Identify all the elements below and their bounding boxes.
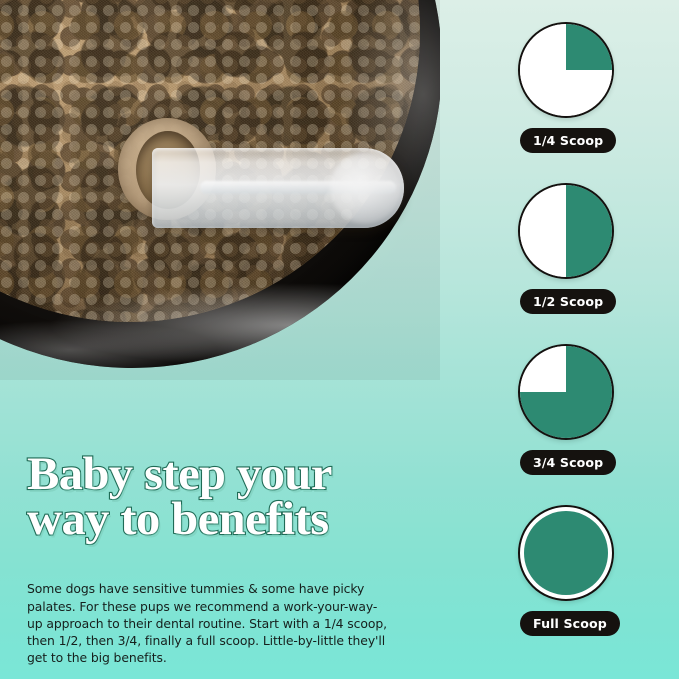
jar-photo [0, 0, 440, 380]
dial-fill-full [524, 511, 608, 595]
dial-fill-three-quarter [520, 346, 612, 438]
headline: Baby step your way to benefits [27, 452, 439, 542]
scoop-dial-full [518, 505, 614, 601]
headline-line-2: way to benefits [27, 497, 439, 542]
scoop-label-half: 1/2 Scoop [520, 289, 616, 314]
scoop-item-quarter: 1/4 Scoop [505, 22, 679, 153]
scoop-dial-column: 1/4 Scoop 1/2 Scoop 3/4 Scoop Full Scoop [505, 0, 679, 679]
scoop-dial-quarter [518, 22, 614, 118]
product-infographic-poster: Baby step your way to benefits Some dogs… [0, 0, 679, 679]
scoop-dial-three-quarter [518, 344, 614, 440]
body-paragraph: Some dogs have sensitive tummies & some … [27, 580, 387, 666]
scoop-item-three-quarter: 3/4 Scoop [505, 344, 679, 475]
scoop-item-half: 1/2 Scoop [505, 183, 679, 314]
scoop-handle-tip-highlight [330, 152, 402, 224]
headline-line-1: Baby step your [27, 452, 439, 497]
scoop-label-three-quarter: 3/4 Scoop [520, 450, 616, 475]
scoop-label-full: Full Scoop [520, 611, 620, 636]
dial-fill-quarter [520, 24, 612, 116]
scoop-item-full: Full Scoop [505, 505, 679, 636]
dial-fill-half [520, 185, 612, 277]
scoop-dial-half [518, 183, 614, 279]
scoop-label-quarter: 1/4 Scoop [520, 128, 616, 153]
